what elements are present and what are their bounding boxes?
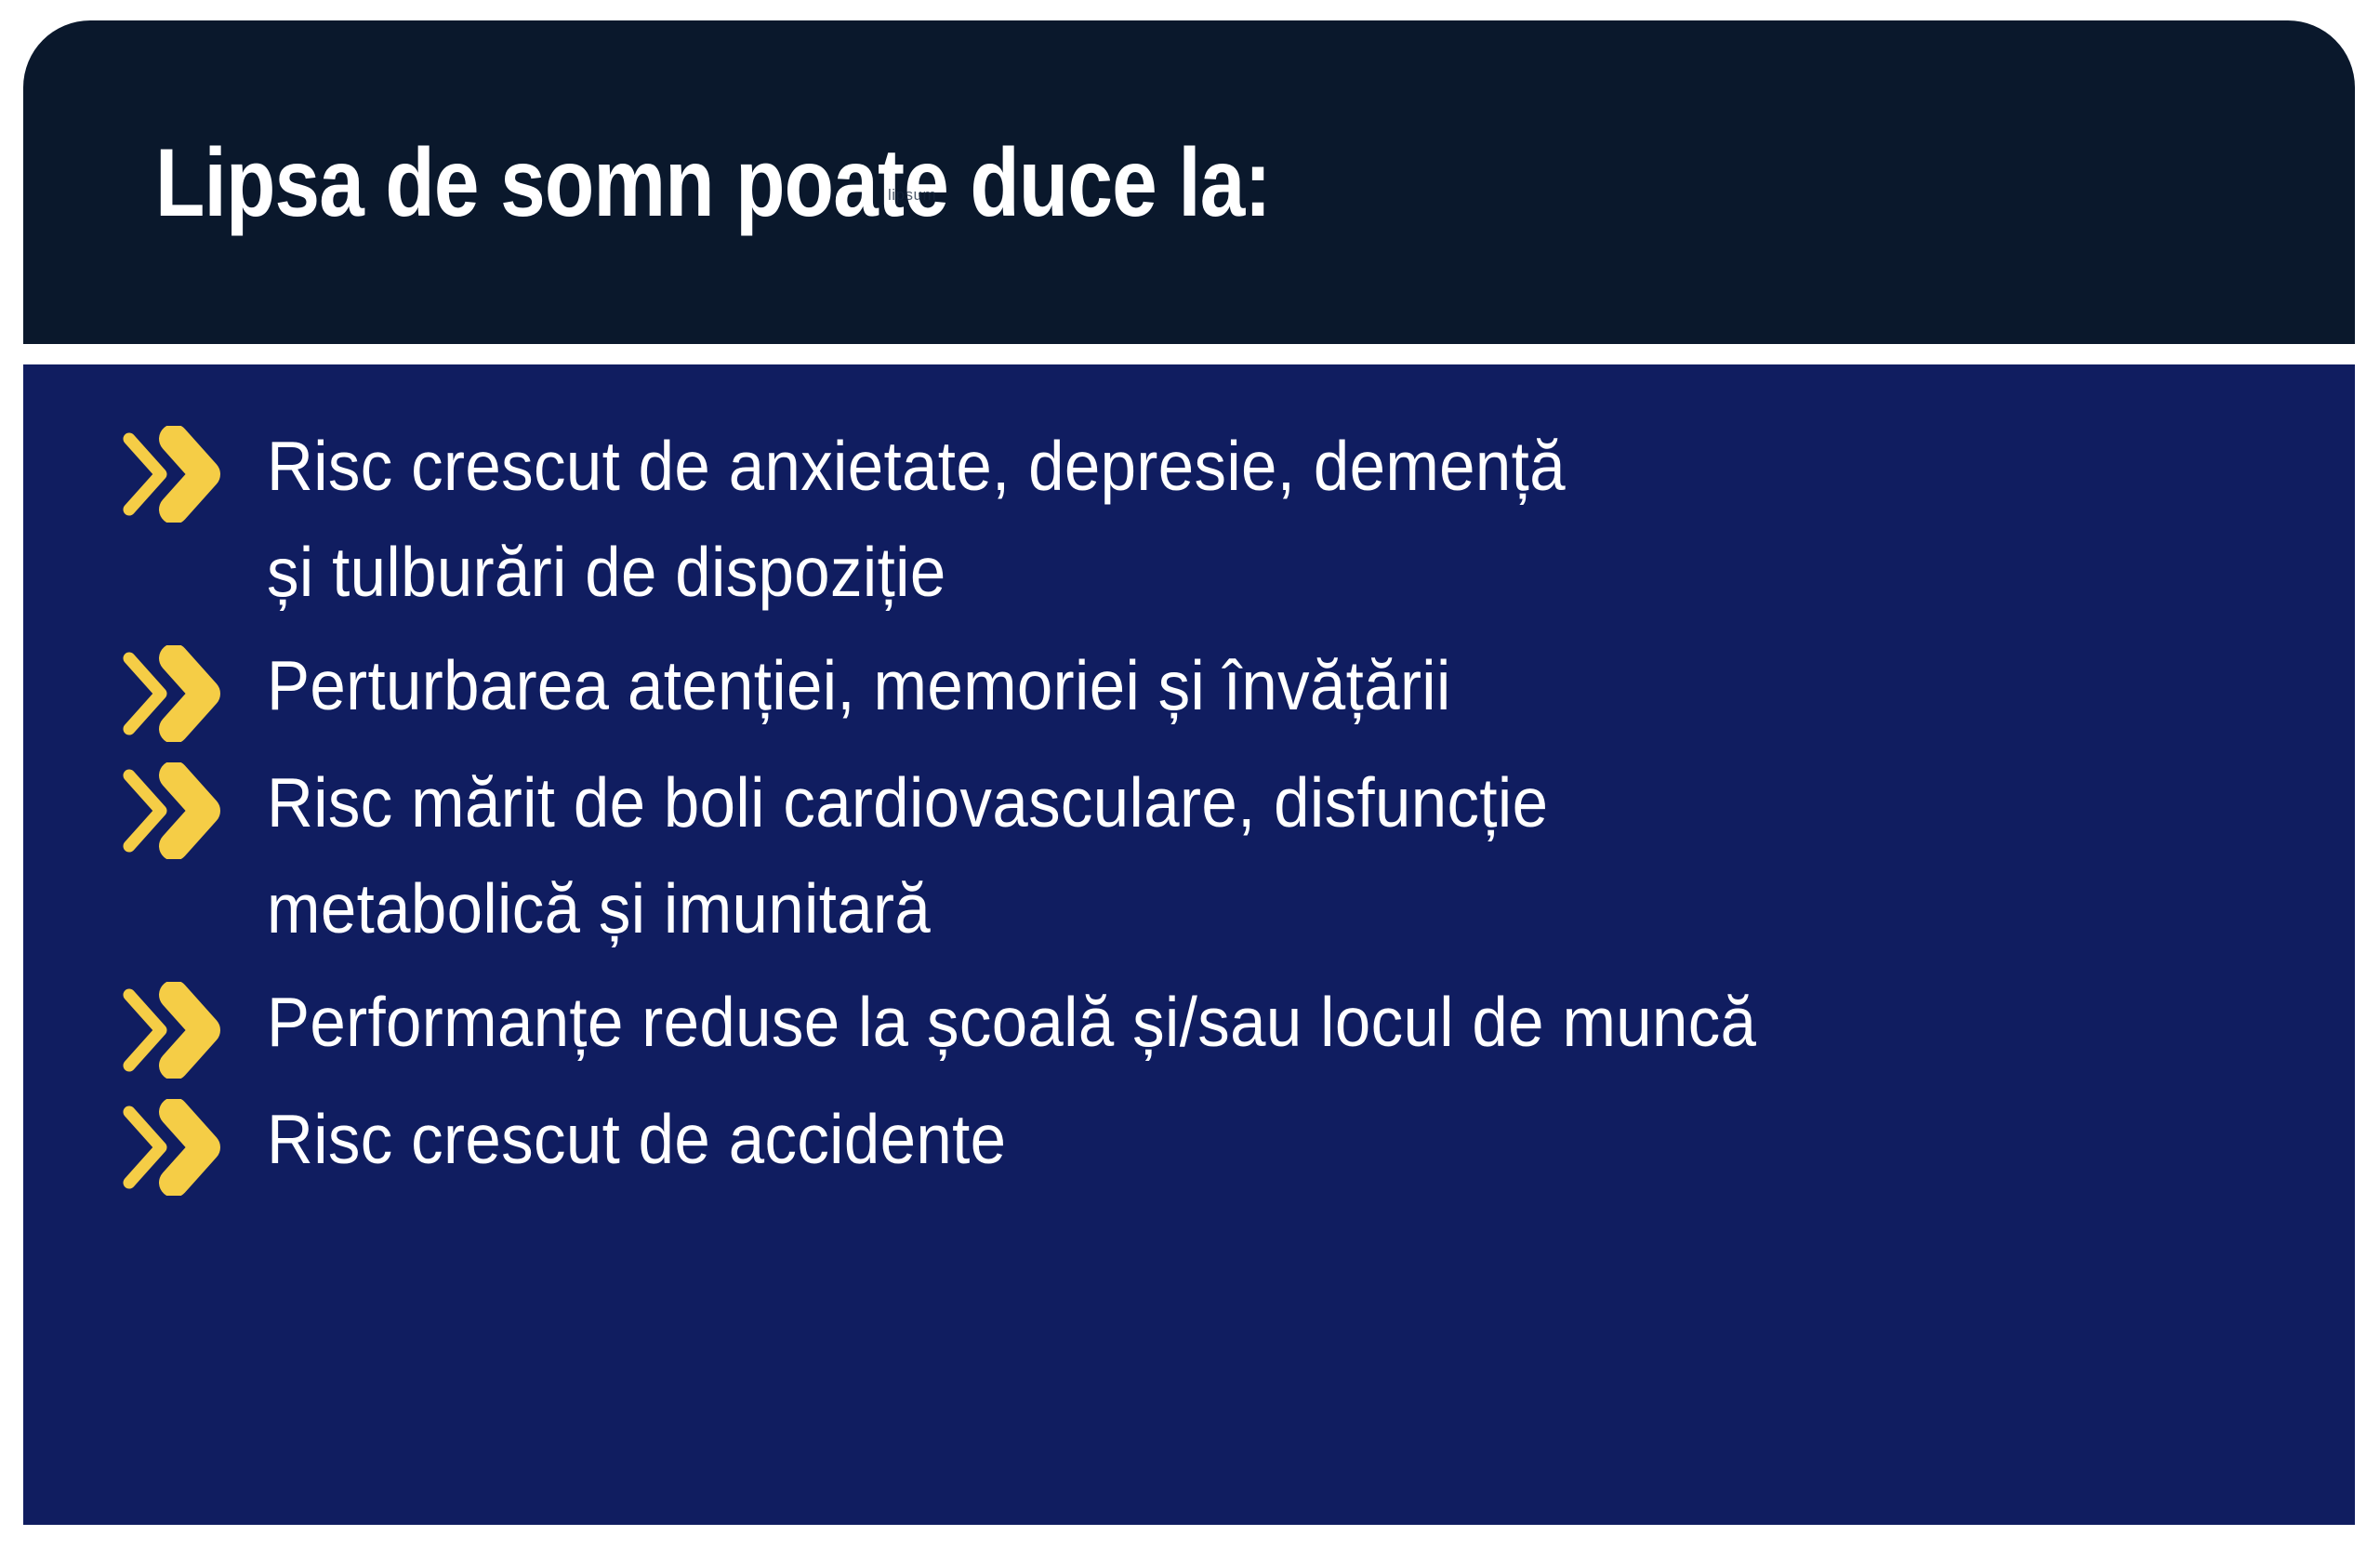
list-item: Perturbarea atenției, memoriei și învăță… [116, 632, 2318, 742]
list-item-label: Performanțe reduse la școală și/sau locu… [267, 969, 1756, 1075]
double-chevron-right-icon [116, 1099, 226, 1196]
header-banner: Lipsa de somn poate duce la: lipsum [23, 20, 2355, 344]
body-panel: Risc crescut de anxietate, depresie, dem… [23, 364, 2355, 1525]
list-item: Risc mărit de boli cardiovasculare, disf… [116, 749, 2318, 961]
infographic-card: Lipsa de somn poate duce la: lipsum Risc… [0, 0, 2380, 1549]
list-item: Risc crescut de anxietate, depresie, dem… [116, 413, 2318, 625]
double-chevron-right-icon [116, 982, 226, 1079]
list-item-label: Risc mărit de boli cardiovasculare, disf… [267, 749, 1601, 961]
list-item: Risc crescut de accidente [116, 1086, 2318, 1196]
list-item: Performanțe reduse la școală și/sau locu… [116, 969, 2318, 1079]
double-chevron-right-icon [116, 762, 226, 859]
list-item-label: Risc crescut de anxietate, depresie, dem… [267, 413, 1601, 625]
list-item-label: Risc crescut de accidente [267, 1086, 1006, 1192]
double-chevron-right-icon [116, 426, 226, 523]
page-title: Lipsa de somn poate duce la: [155, 130, 1271, 236]
list-item-label: Perturbarea atenției, memoriei și învăță… [267, 632, 1451, 738]
double-chevron-right-icon [116, 645, 226, 742]
consequences-list: Risc crescut de anxietate, depresie, dem… [116, 413, 2318, 1203]
watermark-text: lipsum [888, 186, 936, 205]
